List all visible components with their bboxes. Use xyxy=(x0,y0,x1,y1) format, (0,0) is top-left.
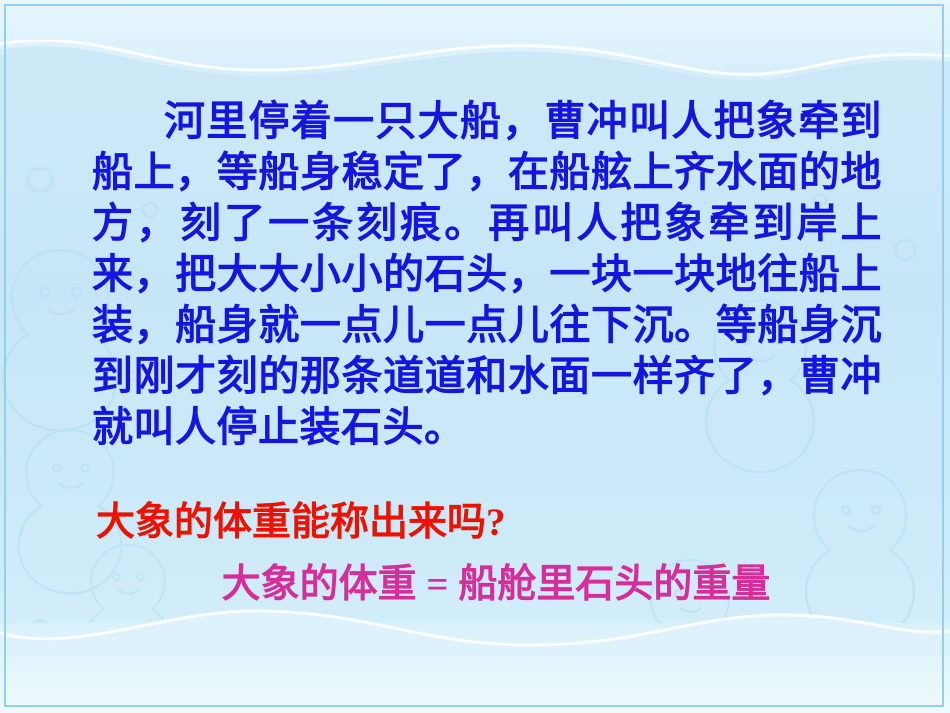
slide: 河里停着一只大船，曹冲叫人把象牵到船上，等船身稳定了，在船舷上齐水面的地方，刻了… xyxy=(0,0,950,713)
question-text: 大象的体重能称出来吗? xyxy=(96,500,896,546)
body-paragraph: 河里停着一只大船，曹冲叫人把象牵到船上，等船身稳定了，在船舷上齐水面的地方，刻了… xyxy=(92,96,882,453)
equation-text: 大象的体重 = 船舱里石头的重量 xyxy=(96,562,896,608)
slide-content: 河里停着一只大船，曹冲叫人把象牵到船上，等船身稳定了，在船舷上齐水面的地方，刻了… xyxy=(0,0,950,713)
